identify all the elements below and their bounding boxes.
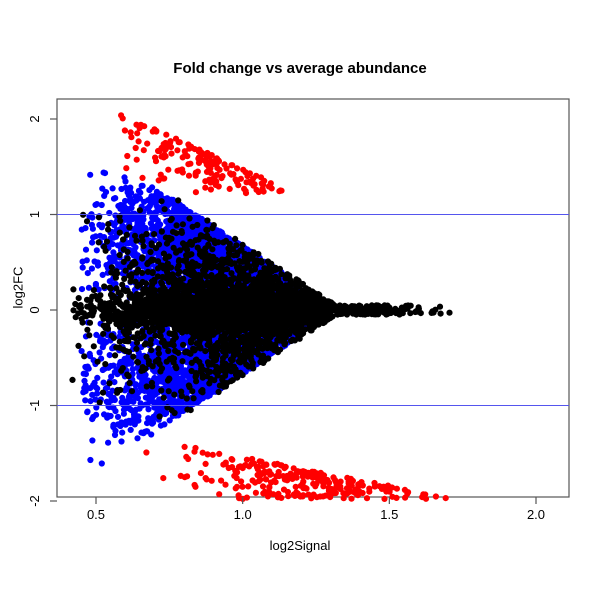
axis-tick-label: 1.5: [380, 507, 398, 522]
axis-tick-label: -1: [27, 400, 42, 412]
axis-tick-label: 0: [27, 306, 42, 313]
axis-tick-label: -2: [27, 495, 42, 507]
axis-tick-label: 0.5: [87, 507, 105, 522]
axis-tick-label: 1.0: [234, 507, 252, 522]
chart-canvas: Fold change vs average abundance log2FC …: [0, 0, 600, 600]
data-points-layer: [69, 112, 452, 502]
scatter-plot-svg: 0.51.01.52.0210-1-2: [0, 0, 600, 600]
axis-tick-label: 2.0: [527, 507, 545, 522]
axis-tick-label: 2: [27, 115, 42, 122]
axis-tick-label: 1: [27, 211, 42, 218]
